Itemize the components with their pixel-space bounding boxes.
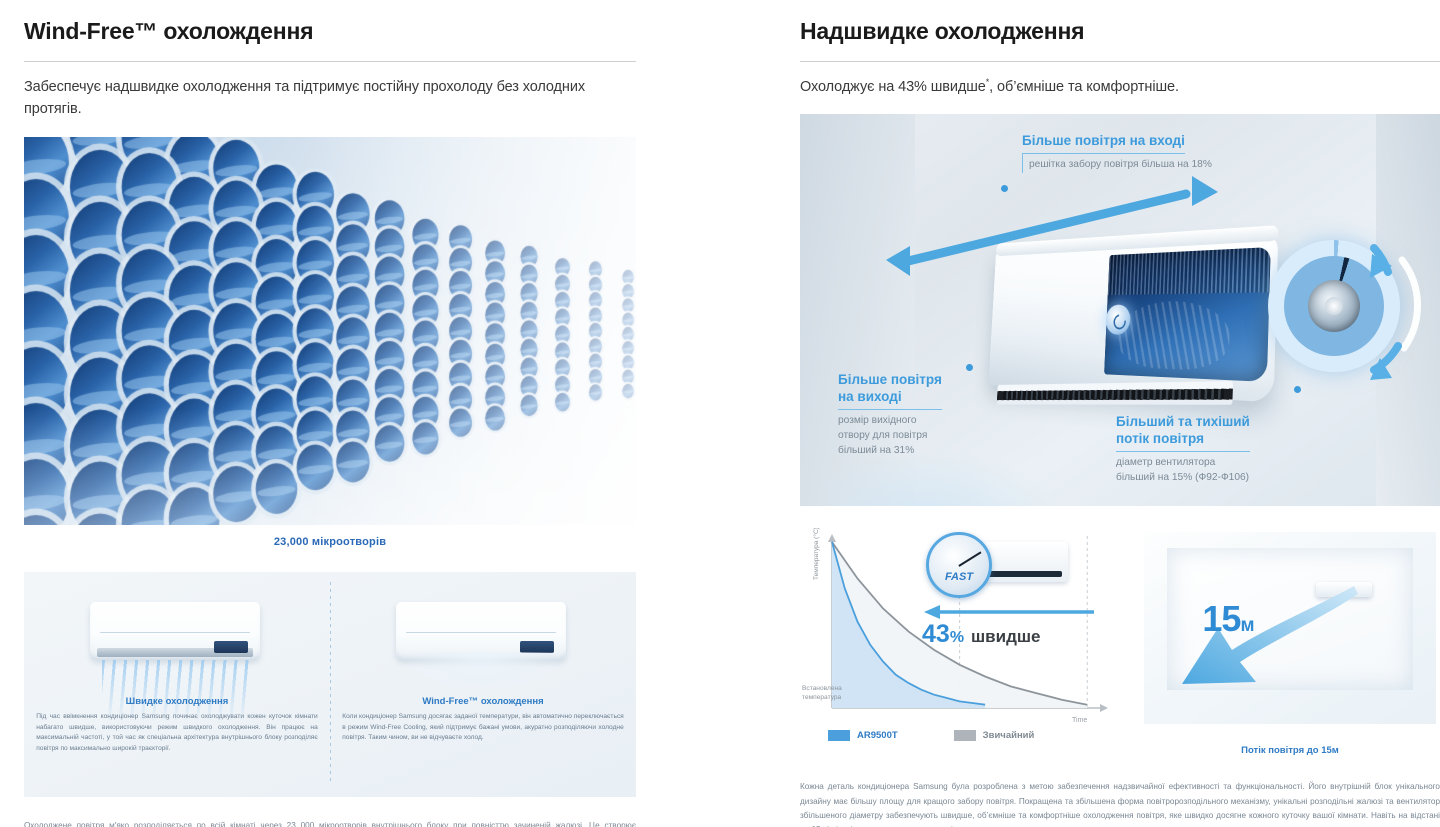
airflow-diagram-image: Більше повітря на вході решітка забору п… bbox=[800, 114, 1440, 506]
left-subtitle: Забеспечує надшвидке охолодження та підт… bbox=[24, 62, 636, 121]
ac-unit-cutaway bbox=[988, 233, 1278, 403]
unit-seam bbox=[100, 632, 250, 633]
chart-xlabel: Time bbox=[1072, 717, 1087, 724]
legend-label-conventional: Звичайний bbox=[983, 730, 1035, 741]
comparison-body-fast: Під час ввімкнення кондиціонер Samsung п… bbox=[36, 712, 318, 755]
fast-badge: FAST bbox=[920, 532, 1068, 604]
internal-airflow-swirl bbox=[1116, 301, 1230, 372]
legend-item-conventional: Звичайний bbox=[954, 730, 1035, 741]
unit-display bbox=[214, 641, 248, 653]
callout-intake-sub: решітка забору повітря більша на 18% bbox=[1022, 154, 1212, 173]
microholes-canvas bbox=[24, 137, 636, 525]
fan-rotation-arrows bbox=[1252, 220, 1428, 396]
right-page-title: Надшвидке охолодження bbox=[800, 0, 1440, 45]
right-footnote: Кожна деталь кондиціонера Samsung була р… bbox=[800, 780, 1440, 827]
legend-swatch-blue bbox=[828, 730, 850, 741]
comparison-divider bbox=[330, 582, 331, 785]
legend-swatch-grey bbox=[954, 730, 976, 741]
page-root: Wind-Free™ охолождення Забеспечує надшви… bbox=[0, 0, 1440, 827]
lower-panels: Температура (°C) Встановлена температура… bbox=[800, 528, 1440, 760]
left-column: Wind-Free™ охолождення Забеспечує надшви… bbox=[24, 0, 636, 827]
callout-outlet: Більше повітряна виході розмір вихідного… bbox=[838, 372, 942, 458]
callout-fan-sub: діаметр вентиляторабільший на 15% (Ф92-Ф… bbox=[1116, 452, 1250, 486]
room-distance-number: 15 bbox=[1202, 598, 1240, 639]
legend-label-ar9500t: AR9500T bbox=[857, 730, 898, 741]
right-subtitle-post: , об’ємніше та комфортніше. bbox=[989, 79, 1179, 95]
right-subtitle: Охолоджує на 43% швидше*, об’ємніше та к… bbox=[800, 62, 1440, 98]
comparison-heading-windfree: Wind-Free™ охолождення bbox=[330, 696, 636, 707]
speed-gain-label: 43% швидше bbox=[922, 620, 1041, 649]
chart-ylabel: Температура (°C) bbox=[812, 528, 820, 580]
speed-gain-unit: % bbox=[950, 629, 964, 646]
callout-intake-title: Більше повітря на вході bbox=[1022, 133, 1185, 154]
chart-legend: AR9500T Звичайний bbox=[828, 730, 1034, 741]
room-caption: Потік повітря до 15м bbox=[1140, 745, 1440, 756]
dial-needle bbox=[958, 552, 981, 568]
cooling-speed-chart: Температура (°C) Встановлена температура… bbox=[800, 528, 1130, 760]
chart-baseline-label-1: Встановлена bbox=[802, 685, 842, 692]
left-page-title: Wind-Free™ охолождення bbox=[24, 0, 636, 45]
microholes-caption: 23,000 мікроотворів bbox=[24, 525, 636, 548]
room-airflow-arrow bbox=[1144, 532, 1440, 728]
fast-dial-label: FAST bbox=[929, 571, 989, 583]
callout-intake-dot bbox=[1001, 185, 1008, 192]
unit-seam bbox=[406, 632, 556, 633]
microholes-hero-image bbox=[24, 137, 636, 525]
left-footnote: Охолоджене повітря м'яко розподіляється … bbox=[24, 819, 636, 827]
room-box: 15м bbox=[1144, 532, 1436, 724]
callout-outlet-title: Більше повітряна виході bbox=[838, 372, 942, 410]
cooling-comparison-image: Швидке охолодження Під час ввімкнення ко… bbox=[24, 572, 636, 797]
ac-unit-fast bbox=[90, 602, 260, 660]
legend-item-ar9500t: AR9500T bbox=[828, 730, 898, 741]
callout-fan-title: Більший та тихішийпотік повітря bbox=[1116, 414, 1250, 452]
callout-outlet-sub: розмір вихідногоотвору для повітрябільши… bbox=[838, 410, 942, 458]
right-column: Надшвидке охолодження Охолоджує на 43% ш… bbox=[800, 0, 1440, 827]
room-distance-label: 15м bbox=[1202, 598, 1253, 640]
fast-dial-icon: FAST bbox=[926, 532, 992, 598]
room-distance-unit: м bbox=[1240, 615, 1253, 636]
comparison-body-windfree: Коли кондиціонер Samsung досягає заданої… bbox=[342, 712, 624, 744]
speed-gain-number: 43 bbox=[922, 620, 950, 648]
speed-gain-arrow bbox=[918, 602, 1098, 622]
callout-intake: Більше повітря на вході решітка забору п… bbox=[1022, 132, 1212, 173]
room-airflow-image: 15м Потік повітря до 15м bbox=[1140, 528, 1440, 760]
chart-baseline-label-2: температура bbox=[802, 694, 842, 701]
speed-gain-word: швидше bbox=[971, 627, 1041, 646]
right-subtitle-pre: Охолоджує на 43% швидше bbox=[800, 79, 986, 95]
ac-louver bbox=[996, 382, 1232, 406]
callout-fan: Більший та тихішийпотік повітря діаметр … bbox=[1116, 414, 1250, 485]
comparison-heading-fast: Швидке охолодження bbox=[24, 696, 330, 707]
heat-exchanger-coil bbox=[1108, 247, 1271, 295]
